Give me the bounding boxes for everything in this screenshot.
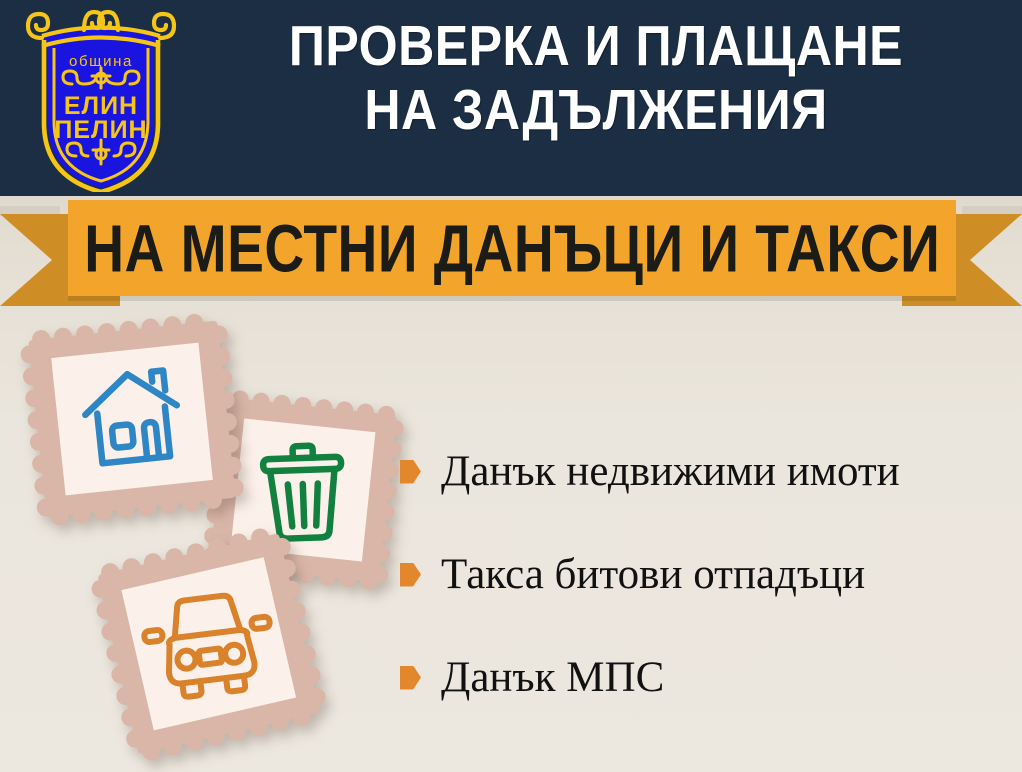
list-item[interactable]: Такса битови отпадъци — [400, 523, 1010, 626]
arrow-bullet-icon — [400, 666, 421, 690]
stamp-card-property-tax — [12, 312, 252, 527]
poster-canvas: ПРОВЕРКА И ПЛАЩАНЕ НА ЗАДЪЛЖЕНИЯ община — [0, 0, 1022, 772]
ribbon-panel: НА МЕСТНИ ДАНЪЦИ И ТАКСИ — [68, 200, 956, 296]
list-item[interactable]: Данък недвижими имоти — [400, 420, 1010, 523]
list-item-label: Данък МПС — [441, 656, 664, 699]
list-item-label: Данък недвижими имоти — [441, 450, 900, 493]
list-item-label: Такса битови отпадъци — [441, 553, 865, 596]
stamp-card-vehicle-tax — [88, 528, 328, 763]
municipality-crest-logo: община ЕЛИН ПЕЛИН — [22, 4, 180, 192]
arrow-bullet-icon — [400, 460, 421, 484]
stamp-paper — [51, 343, 213, 496]
ribbon-label: НА МЕСТНИ ДАНЪЦИ И ТАКСИ — [84, 209, 940, 286]
page-title: ПРОВЕРКА И ПЛАЩАНЕ НА ЗАДЪЛЖЕНИЯ — [235, 14, 957, 143]
list-item[interactable]: Данък МПС — [400, 626, 1010, 729]
tax-types-list: Данък недвижими имоти Такса битови отпад… — [400, 420, 1010, 729]
subtitle-ribbon: НА МЕСТНИ ДАНЪЦИ И ТАКСИ — [0, 196, 1022, 306]
arrow-bullet-icon — [400, 563, 421, 587]
